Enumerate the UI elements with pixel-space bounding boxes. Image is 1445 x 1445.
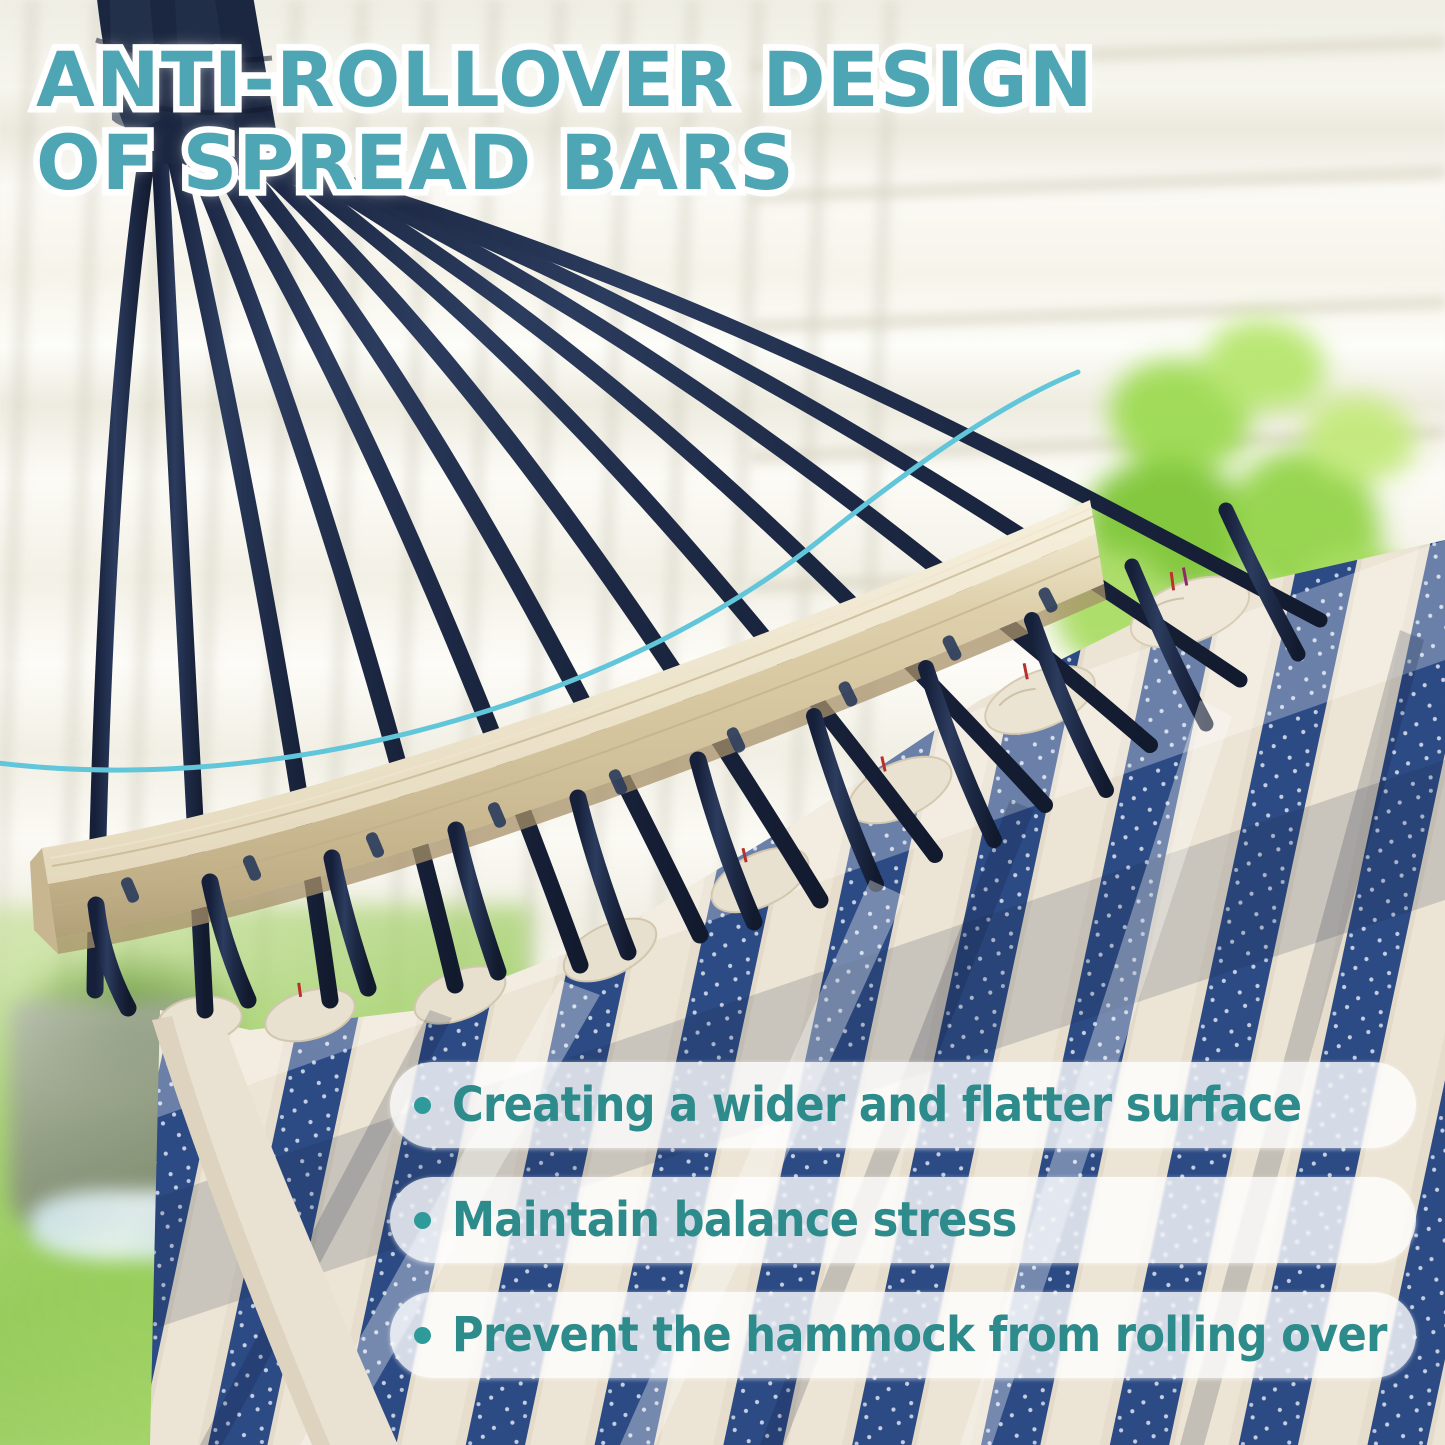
- feature-bullet-list: Creating a wider and flatter surface Mai…: [390, 1062, 1416, 1378]
- feature-bullet-2: Maintain balance stress: [390, 1177, 1416, 1263]
- feature-bullet-2-label: Maintain balance stress: [452, 1193, 1017, 1247]
- headline: ANTI-ROLLOVER DESIGN OF SPREAD BARS: [36, 38, 1196, 204]
- curvature-indicator-arc: [0, 372, 1078, 770]
- feature-bullet-3: Prevent the hammock from rolling over: [390, 1292, 1416, 1378]
- bullet-dot-icon: [414, 1097, 431, 1114]
- headline-line-1: ANTI-ROLLOVER DESIGN: [36, 38, 1196, 121]
- product-feature-image: ANTI-ROLLOVER DESIGN OF SPREAD BARS Crea…: [0, 0, 1445, 1445]
- bullet-dot-icon: [414, 1212, 431, 1229]
- feature-bullet-3-label: Prevent the hammock from rolling over: [452, 1308, 1387, 1362]
- headline-line-2: OF SPREAD BARS: [36, 121, 1196, 204]
- feature-bullet-1-label: Creating a wider and flatter surface: [452, 1078, 1301, 1132]
- bullet-dot-icon: [414, 1327, 431, 1344]
- feature-bullet-1: Creating a wider and flatter surface: [390, 1062, 1416, 1148]
